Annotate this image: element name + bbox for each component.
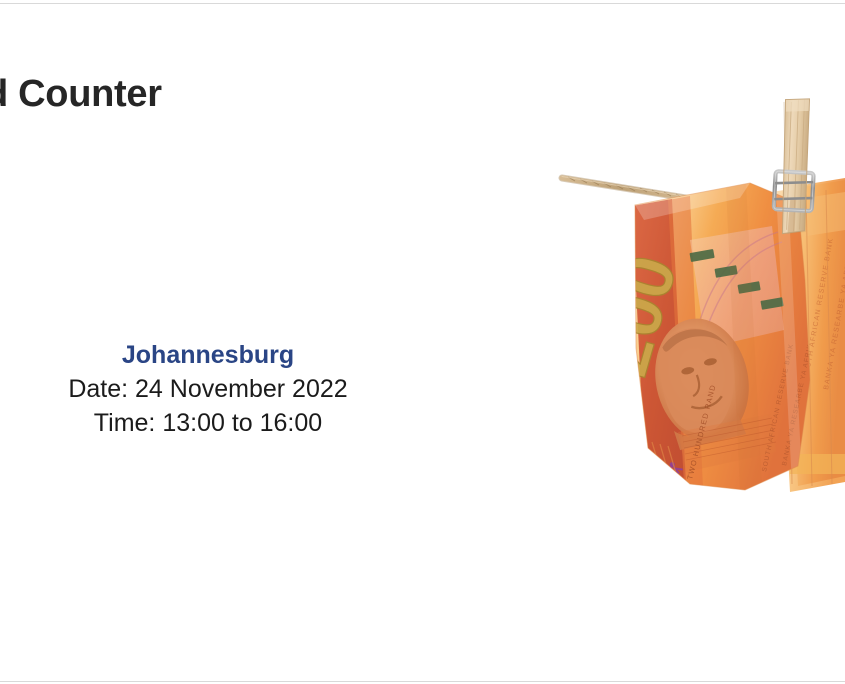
top-edge-rule <box>0 3 845 4</box>
event-date: Date: 24 November 2022 <box>0 372 416 406</box>
presentation-slide: aundering and Counter m compliance y of … <box>0 0 845 684</box>
bottom-edge-rule <box>0 681 845 682</box>
event-details: Johannesburg Date: 24 November 2022 Time… <box>0 338 416 440</box>
event-city: Johannesburg <box>0 338 416 372</box>
banknotes-on-clothesline-image: SOUTH AFRICAN RESERVE BANK BANKA YA RESE… <box>540 80 845 510</box>
banknote-front-200-rand: 200 <box>582 183 814 490</box>
event-time: Time: 13:00 to 16:00 <box>0 406 416 440</box>
slide-title: aundering and Counter m compliance <box>0 70 450 168</box>
slide-title-line-2: m compliance <box>0 119 450 168</box>
slide-title-line-1: aundering and Counter <box>0 70 450 119</box>
slide-subtitle: y of South Africa <box>0 228 450 266</box>
